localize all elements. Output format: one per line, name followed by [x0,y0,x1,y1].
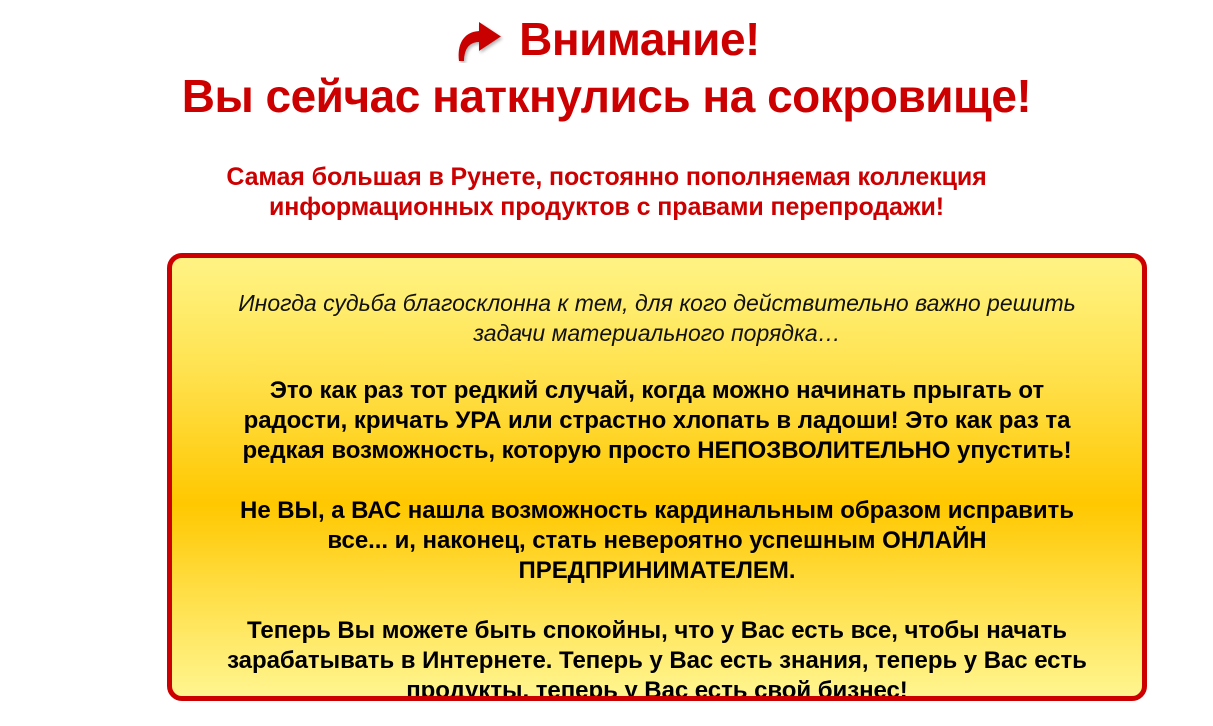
headline-line-1: Внимание! [0,12,1213,66]
headline-title: Внимание! [519,14,760,64]
callout-paragraph-2: Не ВЫ, а ВАС нашла возможность кардиналь… [218,496,1096,586]
promo-page: Внимание! Вы сейчас наткнулись на сокров… [0,0,1213,726]
subtitle-line-2: информационных продуктов с правами переп… [0,192,1213,222]
callout-box: Иногда судьба благосклонна к тем, для ко… [167,253,1147,701]
callout-paragraph-3: Теперь Вы можете быть спокойны, что у Ва… [218,616,1096,701]
headline-block: Внимание! Вы сейчас наткнулись на сокров… [0,0,1213,124]
subtitle-line-1: Самая большая в Рунете, постоянно пополн… [0,162,1213,192]
headline-line-2: Вы сейчас наткнулись на сокровище! [0,68,1213,124]
callout-intro-text: Иногда судьба благосклонна к тем, для ко… [218,288,1096,348]
callout-paragraph-1: Это как раз тот редкий случай, когда мож… [218,376,1096,466]
curved-arrow-right-icon [453,19,505,63]
callout-box-wrapper: Иногда судьба благосклонна к тем, для ко… [167,253,1147,701]
subtitle-block: Самая большая в Рунете, постоянно пополн… [0,162,1213,222]
